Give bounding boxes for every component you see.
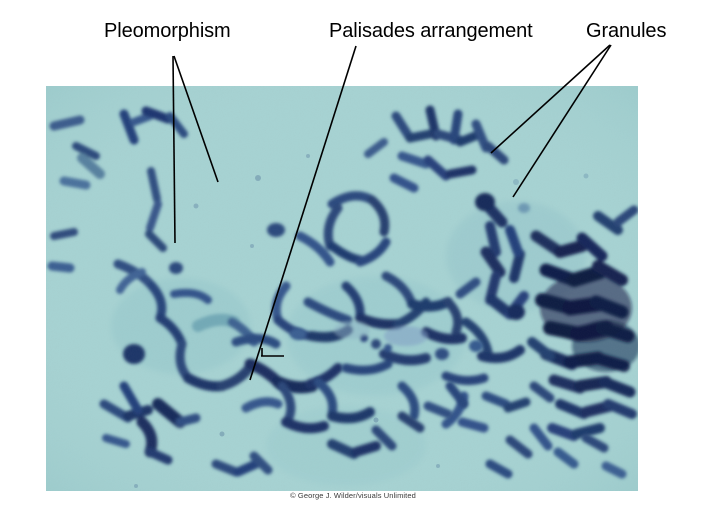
micrograph-canvas — [46, 86, 638, 491]
annotation-label-pleomorphism: Pleomorphism — [104, 20, 231, 42]
annotation-label-granules: Granules — [586, 20, 666, 42]
photo-credit: © George J. Wilder/visuals Unlimited — [0, 491, 706, 501]
annotated-micrograph-slide: Pleomorphism Palisades arrangement Granu… — [0, 0, 706, 528]
bacterial-smear-micrograph — [46, 86, 638, 491]
annotation-label-palisades: Palisades arrangement — [329, 20, 533, 42]
